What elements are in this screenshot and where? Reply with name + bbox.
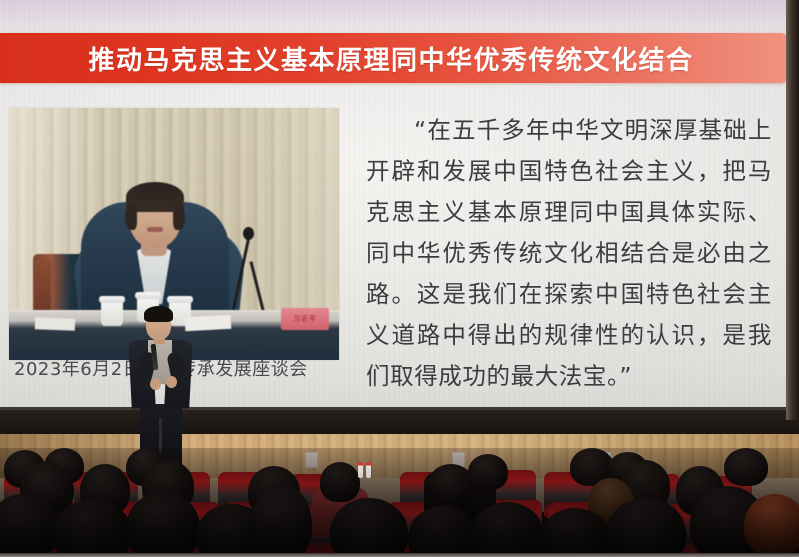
audience-head — [126, 492, 200, 557]
photo-microphone-head — [243, 227, 254, 240]
presenter-hair — [144, 306, 173, 322]
water-bottle — [366, 462, 371, 478]
audience-head — [250, 484, 312, 557]
photo-figure-hair-left — [125, 204, 137, 230]
image-bottom-edge — [0, 553, 799, 557]
photo-papers-left — [35, 317, 75, 330]
screen-top-light-wash — [0, 0, 789, 34]
slide-quote-text: “在五千多年中华文明深厚基础上开辟和发展中国特色社会主义，把马克思主义基本原理同… — [366, 110, 772, 397]
photo-papers-right — [185, 315, 232, 331]
audience-head — [52, 500, 132, 557]
photo-nameplate-text: 习近平 — [293, 314, 317, 324]
photo-figure-right-eye — [161, 209, 172, 212]
photo-figure-left-eye — [137, 209, 148, 212]
photo-teacup-1 — [101, 300, 123, 326]
audience-head — [330, 498, 408, 557]
slide-title-banner: 推动马克思主义基本原理同中华优秀传统文化结合 — [0, 33, 788, 83]
audience-head — [724, 448, 768, 486]
slide-photo: 习近平 — [9, 108, 339, 360]
audience-head — [744, 494, 799, 556]
stage-backdrop-band — [0, 407, 799, 434]
slide-title-text: 推动马克思主义基本原理同中华优秀传统文化结合 — [88, 40, 693, 77]
photo-nameplate: 习近平 — [281, 308, 329, 330]
audience-head — [468, 454, 508, 490]
photo-figure-mouth — [147, 227, 163, 232]
photo-of-lecture-hall: 习近平 2023年6月2日文化传承发展座谈会 “在五千多年中华文明深厚基础上开辟… — [0, 0, 799, 557]
stage-band-highlight — [0, 407, 799, 410]
presenter-right-hand — [166, 376, 177, 388]
water-bottle — [358, 462, 363, 478]
presenter-left-hand — [150, 378, 161, 390]
photo-figure-hair-right — [173, 204, 185, 230]
audience-head — [320, 462, 360, 502]
audience-area — [0, 448, 799, 557]
room-right-wall-edge — [786, 0, 799, 420]
